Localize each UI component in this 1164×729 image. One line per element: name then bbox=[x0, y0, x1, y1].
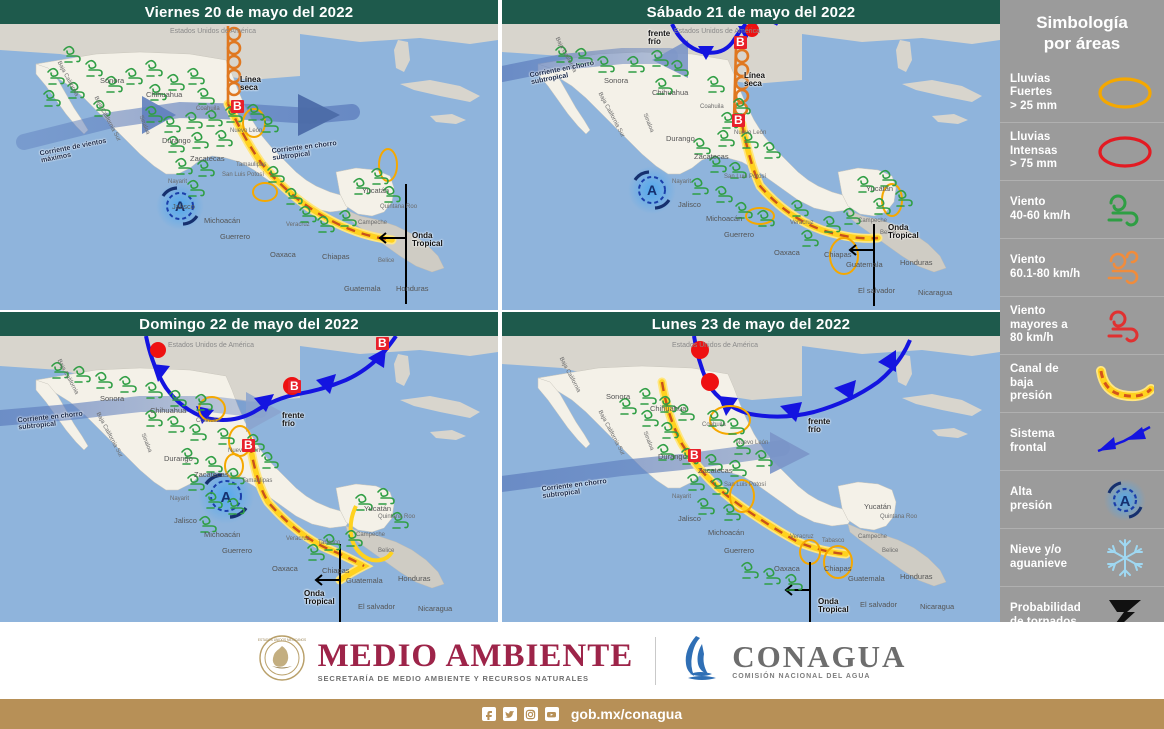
legend-label-viento-mayores-80: Viento mayores a 80 km/h bbox=[1010, 305, 1094, 346]
medio-ambiente-text: MEDIO AMBIENTE SECRETARÍA DE MEDIO AMBIE… bbox=[318, 639, 634, 683]
legend-item-sistema-frontal[interactable]: Sistema frontal bbox=[1000, 412, 1164, 470]
legend-label-alta-presion: Alta presión bbox=[1010, 486, 1094, 513]
map-canvas-viernes: A bbox=[0, 24, 498, 310]
low-pressure-marker-b-3: B bbox=[242, 439, 255, 452]
low-pressure-marker-b-1: B bbox=[376, 337, 389, 350]
low-pressure-trough-icon bbox=[1094, 361, 1156, 407]
panel-title-domingo: Domingo 22 de mayo del 2022 bbox=[0, 312, 498, 336]
low-pressure-marker-b-2: B bbox=[288, 380, 301, 393]
orange-ellipse-icon bbox=[1094, 70, 1156, 116]
legend-label-lluvias-intensas: Lluvias Intensas > 75 mm bbox=[1010, 131, 1094, 172]
legend-label-sistema-frontal: Sistema frontal bbox=[1010, 428, 1094, 455]
red-ellipse-icon bbox=[1094, 129, 1156, 175]
annotation-frente-frio: frente frío bbox=[282, 412, 304, 429]
footer-social-bar: gob.mx/conagua bbox=[0, 699, 1164, 729]
facebook-icon[interactable] bbox=[482, 707, 496, 721]
annotation-linea-seca: Línea seca bbox=[744, 72, 765, 89]
legend-item-lluvias-fuertes[interactable]: Lluvias Fuertes > 25 mm bbox=[1000, 64, 1164, 122]
map-panel-viernes[interactable]: Viernes 20 de mayo del 2022 bbox=[0, 0, 498, 310]
legend-label-nieve: Nieve y/o aguanieve bbox=[1010, 544, 1094, 571]
footer-logos: ESTADOS UNIDOS MEXICANOS MEDIO AMBIENTE … bbox=[0, 622, 1164, 699]
panel-title-viernes: Viernes 20 de mayo del 2022 bbox=[0, 0, 498, 24]
wind-green-icon bbox=[1094, 187, 1156, 233]
low-pressure-marker-b: B bbox=[231, 100, 244, 113]
legend-item-canal-baja-presion[interactable]: Canal de baja presión bbox=[1000, 354, 1164, 412]
medio-ambiente-logo-block: ESTADOS UNIDOS MEXICANOS MEDIO AMBIENTE … bbox=[258, 634, 634, 687]
snow-icon bbox=[1094, 535, 1156, 581]
instagram-icon[interactable] bbox=[524, 707, 538, 721]
svg-text:A: A bbox=[647, 182, 657, 198]
svg-text:ESTADOS UNIDOS MEXICANOS: ESTADOS UNIDOS MEXICANOS bbox=[258, 638, 306, 642]
map-graphic-viernes: A bbox=[0, 24, 498, 310]
medio-ambiente-subtitle: SECRETARÍA DE MEDIO AMBIENTE Y RECURSOS … bbox=[318, 674, 634, 683]
map-canvas-domingo: A bbox=[0, 336, 498, 622]
legend-label-canal-baja-presion: Canal de baja presión bbox=[1010, 363, 1094, 404]
panel-title-lunes: Lunes 23 de mayo del 2022 bbox=[502, 312, 1000, 336]
medio-ambiente-title: MEDIO AMBIENTE bbox=[318, 639, 634, 673]
map-panel-lunes[interactable]: Lunes 23 de mayo del 2022 bbox=[502, 312, 1000, 622]
low-pressure-marker-b-2: B bbox=[732, 114, 745, 127]
wind-orange-icon bbox=[1094, 245, 1156, 291]
high-pressure-symbol: A bbox=[156, 182, 204, 230]
legend-item-viento-40-60[interactable]: Viento 40-60 km/h bbox=[1000, 180, 1164, 238]
annotation-frente-frio: frente frío bbox=[648, 30, 670, 47]
low-pressure-marker-b-1: B bbox=[734, 36, 747, 49]
annotation-onda-tropical: Onda Tropical bbox=[304, 590, 335, 607]
map-canvas-sabado: A bbox=[502, 24, 1000, 310]
high-pressure-icon: A bbox=[1094, 477, 1156, 523]
conagua-text: CONAGUA COMISIÓN NACIONAL DEL AGUA bbox=[732, 641, 906, 680]
weather-forecast-infographic: Viernes 20 de mayo del 2022 bbox=[0, 0, 1164, 729]
mexico-eagle-seal-icon: ESTADOS UNIDOS MEXICANOS bbox=[258, 634, 306, 687]
twitter-icon[interactable] bbox=[503, 707, 517, 721]
footer-divider bbox=[655, 637, 656, 685]
svg-text:A: A bbox=[175, 198, 185, 214]
legend-item-alta-presion[interactable]: Alta presión A bbox=[1000, 470, 1164, 528]
conagua-subtitle: COMISIÓN NACIONAL DEL AGUA bbox=[732, 673, 906, 680]
legend-label-lluvias-fuertes: Lluvias Fuertes > 25 mm bbox=[1010, 73, 1094, 114]
legend-item-viento-60-80[interactable]: Viento 60.1-80 km/h bbox=[1000, 238, 1164, 296]
annotation-onda-tropical: Onda Tropical bbox=[412, 232, 443, 249]
map-panel-domingo[interactable]: Domingo 22 de mayo del 2022 bbox=[0, 312, 498, 622]
annotation-onda-tropical: Onda Tropical bbox=[888, 224, 919, 241]
legend-item-nieve[interactable]: Nieve y/o aguanieve bbox=[1000, 528, 1164, 586]
legend-panel: Simbología por áreas Lluvias Fuertes > 2… bbox=[1000, 0, 1164, 622]
legend-label-viento-40-60: Viento 40-60 km/h bbox=[1010, 196, 1094, 223]
annotation-onda-tropical: Onda Tropical bbox=[818, 598, 849, 615]
youtube-icon[interactable] bbox=[545, 707, 559, 721]
map-graphic-lunes bbox=[502, 336, 1000, 622]
high-pressure-symbol: A bbox=[628, 166, 676, 214]
legend-title-line1: Simbología bbox=[1008, 12, 1156, 33]
legend-title-line2: por áreas bbox=[1008, 33, 1156, 54]
website-url[interactable]: gob.mx/conagua bbox=[571, 706, 682, 722]
maps-grid: Viernes 20 de mayo del 2022 bbox=[0, 0, 1000, 622]
svg-text:A: A bbox=[1120, 493, 1131, 510]
map-canvas-lunes: Estados Unidos de América Sonora Chihuah… bbox=[502, 336, 1000, 622]
legend-item-viento-mayores-80[interactable]: Viento mayores a 80 km/h bbox=[1000, 296, 1164, 354]
map-panel-sabado[interactable]: Sábado 21 de mayo del 2022 bbox=[502, 0, 1000, 310]
legend-rows: Lluvias Fuertes > 25 mm Lluvias Intensas… bbox=[1000, 64, 1164, 644]
annotation-linea-seca: Línea seca bbox=[240, 76, 261, 93]
annotation-frente-frio: frente frío bbox=[808, 418, 830, 435]
conagua-eagle-water-icon bbox=[678, 634, 722, 687]
conagua-title: CONAGUA bbox=[732, 641, 906, 673]
low-pressure-marker-b: B bbox=[688, 449, 701, 462]
legend-label-viento-60-80: Viento 60.1-80 km/h bbox=[1010, 254, 1094, 281]
legend-item-lluvias-intensas[interactable]: Lluvias Intensas > 75 mm bbox=[1000, 122, 1164, 180]
wind-red-icon bbox=[1094, 303, 1156, 349]
map-graphic-domingo: A bbox=[0, 336, 498, 622]
cold-front-icon bbox=[1094, 419, 1156, 465]
legend-title: Simbología por áreas bbox=[1000, 6, 1164, 64]
conagua-logo-block: CONAGUA COMISIÓN NACIONAL DEL AGUA bbox=[678, 634, 906, 687]
panel-title-sabado: Sábado 21 de mayo del 2022 bbox=[502, 0, 1000, 24]
